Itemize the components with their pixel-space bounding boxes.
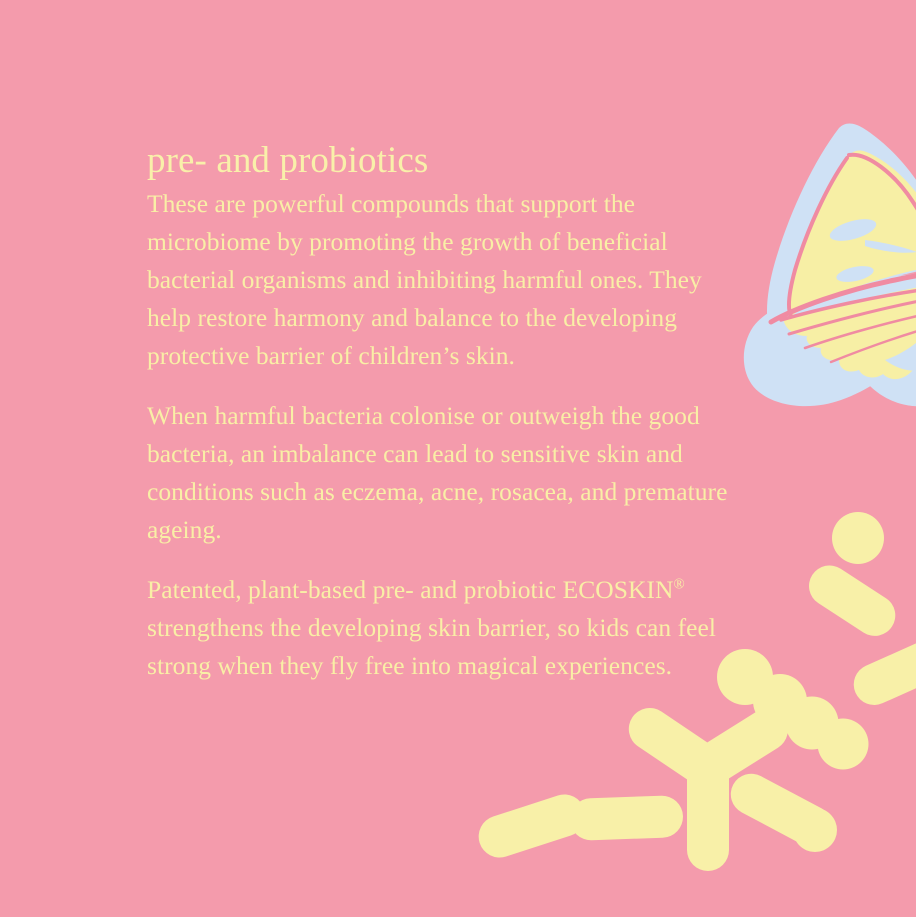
rod-left-lower-second xyxy=(569,795,683,841)
ecoskin-trailing-text: strengthens the developing skin barrier,… xyxy=(147,613,716,680)
rod-upper-right xyxy=(801,558,903,644)
ecoskin-lead-text: Patented, plant-based pre- and probiotic… xyxy=(147,575,673,604)
page-root: pre- and probiotics These are powerful c… xyxy=(0,0,916,917)
article-content: pre- and probiotics These are powerful c… xyxy=(147,140,767,685)
coccus-chain-4 xyxy=(818,719,869,770)
rod-right-edge xyxy=(847,633,916,711)
rod-left-lower xyxy=(473,789,591,863)
paragraph-ecoskin-benefit: Patented, plant-based pre- and probiotic… xyxy=(147,571,762,685)
coccus-top-right xyxy=(832,512,884,564)
paragraph-imbalance-conditions: When harmful bacteria colonise or outwei… xyxy=(147,397,747,549)
registered-trademark-icon: ® xyxy=(673,577,684,593)
rod-lower-right xyxy=(724,767,840,855)
paragraph-microbiome-support: These are powerful compounds that suppor… xyxy=(147,185,747,375)
coccus-bottom-right xyxy=(793,808,837,852)
y-bacterium xyxy=(621,700,796,871)
page-title: pre- and probiotics xyxy=(147,140,767,181)
coccus-chain-3 xyxy=(786,697,839,750)
